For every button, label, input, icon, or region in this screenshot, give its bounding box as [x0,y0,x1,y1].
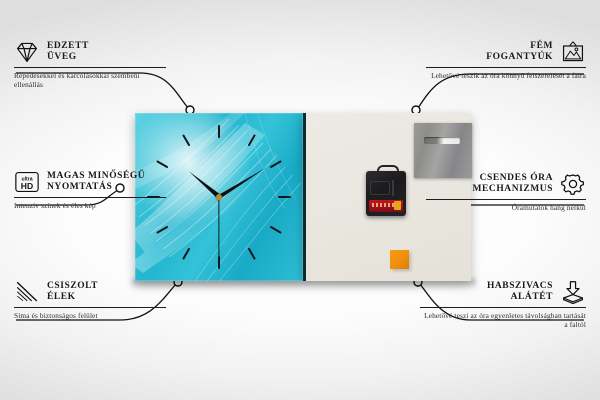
feature-description: Óramutatók hang nélkül [426,203,586,212]
divider [420,307,586,308]
hour-marker-12 [218,125,220,197]
feature-callout-foam-pad: HABSZIVACS ALÁTÉT Lehetővé teszi az óra … [420,280,586,330]
divider [426,67,586,68]
foam-spacer-pad [390,250,409,269]
feature-title-line2: NYOMTATÁS [47,182,145,194]
feature-title-line1: HABSZIVACS [487,281,553,293]
feature-title-line1: EDZETT [47,41,89,53]
feature-title-line1: CSENDES ÓRA [473,173,553,185]
infographic-stage: EDZETT ÜVEG Repedésekkel és karcolásokka… [0,0,600,400]
gear-icon [560,172,586,196]
battery-label [372,203,394,207]
svg-text:HD: HD [21,181,33,191]
mechanism-seam [370,181,390,195]
feature-callout-silent-mechanism: CSENDES ÓRA MECHANIZMUS Óramutatók hang … [426,172,586,212]
feature-title-line2: ÉLEK [47,292,98,304]
clock-center-cap [216,194,222,200]
hour-marker-3 [219,196,291,198]
feature-title-line1: FÉM [486,41,553,53]
mechanism-seam-vertical [392,180,394,196]
battery-plus-terminal [394,201,401,210]
feature-description: Repedésekkel és karcolásokkal szembeni e… [14,71,166,90]
divider [14,307,166,308]
metal-hanger-plate [414,123,472,178]
ultra-hd-icon: ultra HD [14,170,40,194]
battery [369,200,403,212]
feature-callout-high-quality-print: ultra HD MAGAS MINŐSÉGŰ NYOMTATÁS Intenz… [14,170,166,210]
mechanism-handle [377,165,399,176]
feature-callout-polished-edges: CSISZOLT ÉLEK Sima és biztonságos felüle… [14,280,166,320]
feature-description: Lehetővé teszik az óra könnyű felszerelé… [426,71,586,80]
divider [14,197,166,198]
press-pad-icon [560,280,586,304]
feature-callout-tempered-glass: EDZETT ÜVEG Repedésekkel és karcolásokka… [14,40,166,90]
feature-title-line1: CSISZOLT [47,281,98,293]
feature-title-line2: FOGANTYÚK [486,52,553,64]
quartz-mechanism [366,171,406,216]
divider [426,199,586,200]
feature-title-line2: ALÁTÉT [487,292,553,304]
feature-description: Sima és biztonságos felület [14,311,166,320]
diamond-icon [14,40,40,64]
hanger-slot [424,137,460,144]
polished-edge-icon [14,280,40,304]
feature-title-line2: ÜVEG [47,52,89,64]
feature-description: Intenzív színek és éles kép [14,201,166,210]
feature-title-line1: MAGAS MINŐSÉGŰ [47,171,145,183]
divider [14,67,166,68]
feature-title-line2: MECHANIZMUS [473,184,553,196]
picture-frame-icon [560,40,586,64]
feature-description: Lehetővé teszi az óra egyenletes távolsá… [420,311,586,330]
feature-callout-metal-handles: FÉM FOGANTYÚK Lehetővé teszik az óra kön… [426,40,586,80]
